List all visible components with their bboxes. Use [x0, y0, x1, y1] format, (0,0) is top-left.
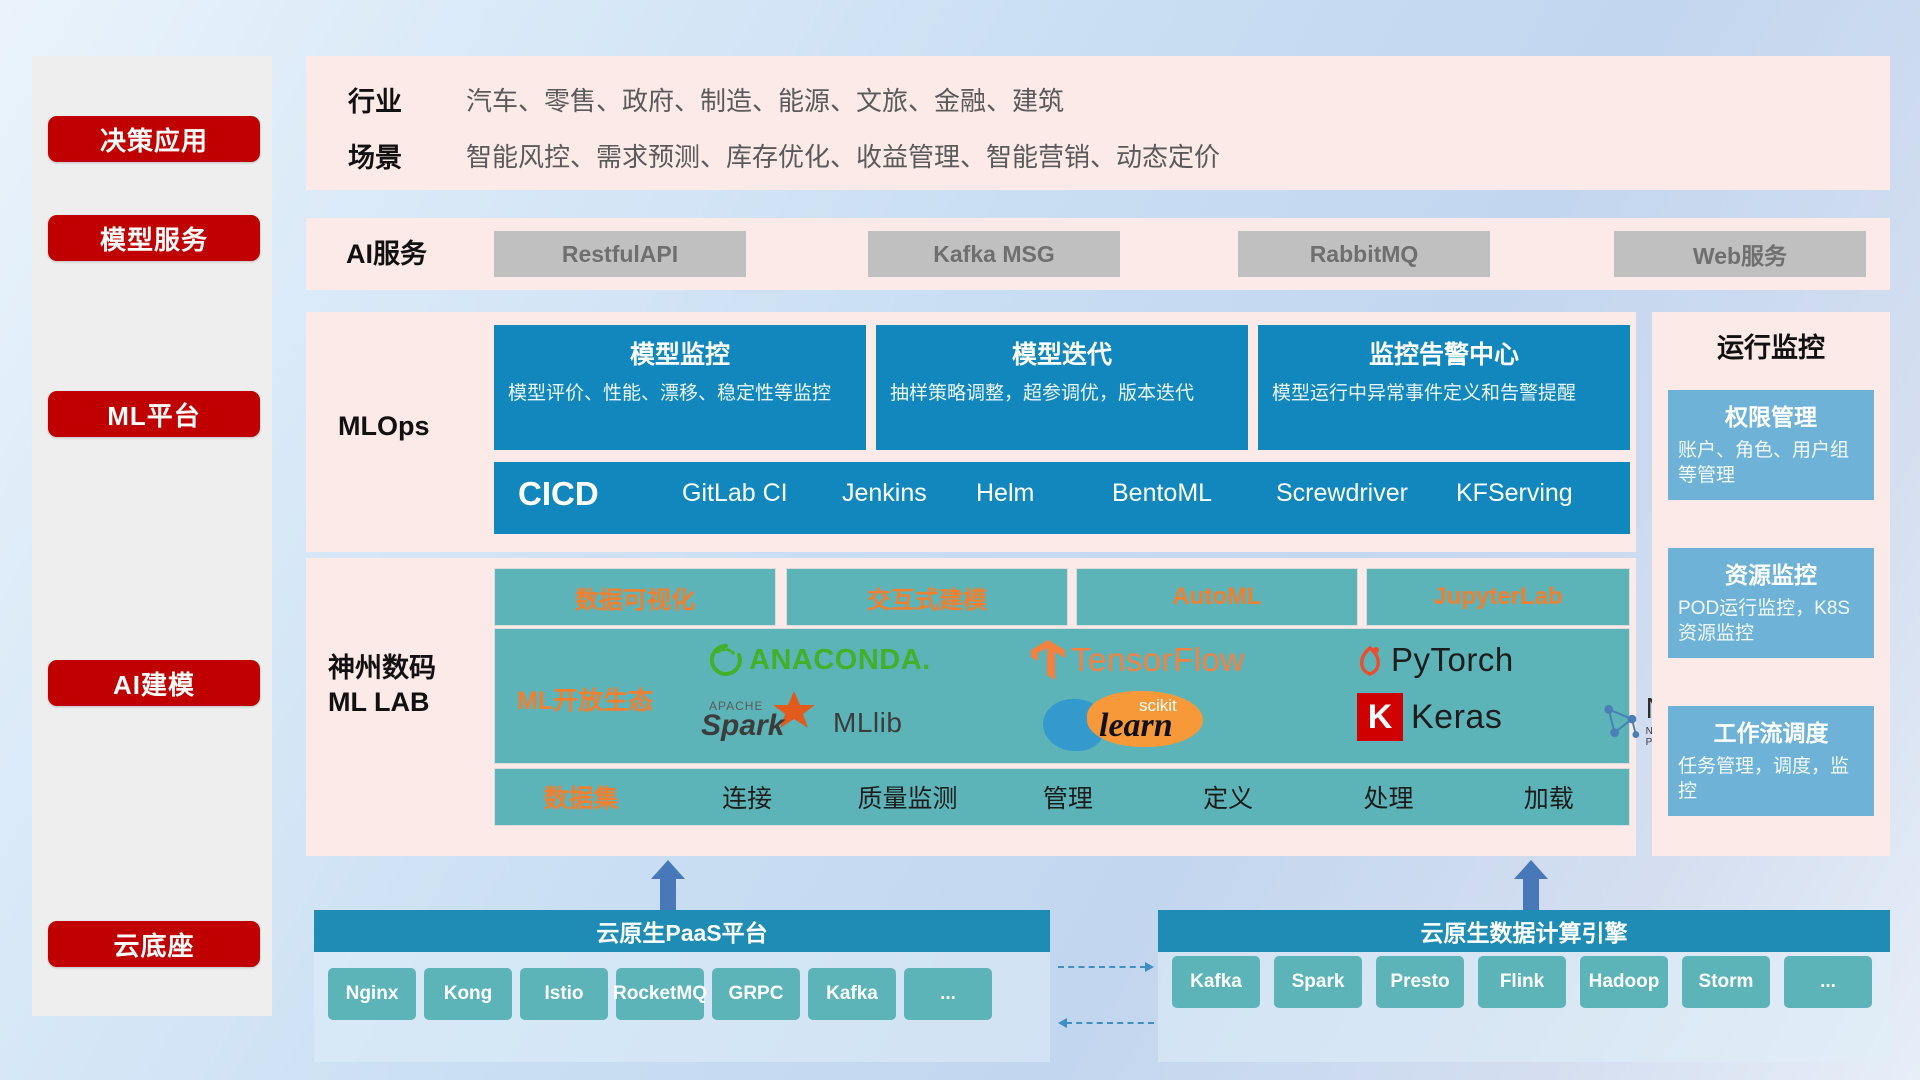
ai-chip-web-service[interactable]: Web服务 [1614, 231, 1866, 277]
dataset-row: 数据集 连接 质量监测 管理 定义 处理 加载 [494, 768, 1630, 826]
right-card-desc: 任务管理，调度，监控 [1678, 754, 1864, 804]
industry-key: 行业 [348, 80, 466, 119]
right-card-resource-monitoring[interactable]: 资源监控 POD运行监控，K8S资源监控 [1668, 548, 1874, 658]
dataset-item-connect[interactable]: 连接 [667, 779, 827, 815]
lab-tab-data-visualization[interactable]: 数据可视化 [494, 568, 776, 626]
ml-lab-label-line2: ML LAB [328, 687, 430, 717]
up-arrow-paas [651, 860, 685, 910]
left-rail: 决策应用 模型服务 ML平台 AI建模 云底座 [32, 56, 272, 1016]
paas-chip-rocketmq[interactable]: RocketMQ [616, 968, 704, 1020]
paas-chip-nginx[interactable]: Nginx [328, 968, 416, 1020]
mllib-logo-text: MLlib [833, 707, 902, 739]
paas-chip-more[interactable]: ... [904, 968, 992, 1020]
data-engine-panel-title: 云原生数据计算引擎 [1158, 910, 1890, 952]
dashed-arrow-to-paas [1058, 1022, 1154, 1024]
paas-panel-title: 云原生PaaS平台 [314, 910, 1050, 952]
paas-chip-grpc[interactable]: GRPC [712, 968, 800, 1020]
ai-chip-restfulapi[interactable]: RestfulAPI [494, 231, 746, 277]
right-card-permission-management[interactable]: 权限管理 账户、角色、用户组等管理 [1668, 390, 1874, 500]
industry-row: 行业 汽车、零售、政府、制造、能源、文旅、金融、建筑 [348, 80, 1064, 119]
cicd-title: CICD [518, 475, 599, 513]
scenario-row: 场景 智能风控、需求预测、库存优化、收益管理、智能营销、动态定价 [348, 136, 1220, 175]
cicd-item-helm[interactable]: Helm [976, 478, 1126, 509]
ai-service-band: AI服务 RestfulAPI Kafka MSG RabbitMQ Web服务 [306, 218, 1890, 290]
tensorflow-logo: TensorFlow [1029, 639, 1245, 681]
cicd-item-screwdriver[interactable]: Screwdriver [1276, 478, 1426, 509]
paas-chip-kafka[interactable]: Kafka [808, 968, 896, 1020]
mlops-card-title: 监控告警中心 [1272, 335, 1616, 371]
dataset-label: 数据集 [495, 779, 667, 815]
architecture-diagram: 决策应用 模型服务 ML平台 AI建模 云底座 行业 汽车、零售、政府、制造、能… [0, 0, 1920, 1080]
learn-text: learn [1099, 707, 1173, 745]
scenario-key: 场景 [348, 136, 466, 175]
engine-chip-spark[interactable]: Spark [1274, 956, 1362, 1008]
ai-service-label: AI服务 [346, 238, 427, 272]
mlops-card-model-monitoring[interactable]: 模型监控 模型评价、性能、漂移、稳定性等监控 [494, 325, 866, 450]
mlops-card-title: 模型监控 [508, 335, 852, 371]
dataset-item-manage[interactable]: 管理 [988, 779, 1148, 815]
rail-item-ai-modeling[interactable]: AI建模 [48, 660, 260, 706]
mlops-card-desc: 模型运行中异常事件定义和告警提醒 [1272, 381, 1616, 407]
lab-tab-automl[interactable]: AutoML [1076, 568, 1358, 626]
right-card-desc: POD运行监控，K8S资源监控 [1678, 596, 1864, 646]
cicd-item-gitlab-ci[interactable]: GitLab CI [682, 478, 832, 509]
mlops-card-model-iteration[interactable]: 模型迭代 抽样策略调整，超参调优，版本迭代 [876, 325, 1248, 450]
keras-k-text: K [1368, 698, 1393, 737]
pytorch-logo: PyTorch [1353, 641, 1514, 679]
industry-scenario-band: 行业 汽车、零售、政府、制造、能源、文旅、金融、建筑 场景 智能风控、需求预测、… [306, 56, 1890, 190]
cicd-item-bentoml[interactable]: BentoML [1112, 478, 1262, 509]
paas-chip-kong[interactable]: Kong [424, 968, 512, 1020]
engine-chip-more[interactable]: ... [1784, 956, 1872, 1008]
ai-chip-rabbitmq[interactable]: RabbitMQ [1238, 231, 1490, 277]
cicd-bar: CICD GitLab CI Jenkins Helm BentoML Scre… [494, 462, 1630, 534]
mlops-label: MLOps [338, 410, 430, 444]
pytorch-logo-text: PyTorch [1391, 641, 1514, 679]
dataset-item-process[interactable]: 处理 [1308, 779, 1468, 815]
scikit-learn-logo: scikit learn [1043, 691, 1233, 753]
right-card-title: 资源监控 [1678, 556, 1864, 590]
anaconda-logo: ANACONDA. [709, 643, 931, 677]
dataset-item-define[interactable]: 定义 [1148, 779, 1308, 815]
right-card-workflow-scheduling[interactable]: 工作流调度 任务管理，调度，监控 [1668, 706, 1874, 816]
tensorflow-logo-text: TensorFlow [1071, 641, 1245, 679]
keras-logo-text: Keras [1411, 698, 1502, 737]
lab-tab-jupyterlab[interactable]: JupyterLab [1366, 568, 1630, 626]
right-card-title: 权限管理 [1678, 398, 1864, 432]
engine-chip-presto[interactable]: Presto [1376, 956, 1464, 1008]
spark-logo-text: Spark [701, 709, 784, 743]
spark-mllib-logo: APACHE Spark MLlib [697, 695, 902, 751]
dataset-item-load[interactable]: 加载 [1469, 779, 1629, 815]
mlops-card-alert-center[interactable]: 监控告警中心 模型运行中异常事件定义和告警提醒 [1258, 325, 1630, 450]
anaconda-logo-text: ANACONDA. [749, 644, 931, 677]
scenario-value: 智能风控、需求预测、库存优化、收益管理、智能营销、动态定价 [466, 137, 1220, 174]
dataset-item-quality[interactable]: 质量监测 [827, 779, 987, 815]
mlops-card-desc: 模型评价、性能、漂移、稳定性等监控 [508, 381, 852, 407]
keras-logo: K Keras [1357, 693, 1502, 741]
mlops-card-desc: 抽样策略调整，超参调优，版本迭代 [890, 381, 1234, 407]
dashed-arrow-to-engine [1058, 966, 1154, 968]
cicd-item-jenkins[interactable]: Jenkins [842, 478, 992, 509]
engine-chip-hadoop[interactable]: Hadoop [1580, 956, 1668, 1008]
engine-chip-kafka[interactable]: Kafka [1172, 956, 1260, 1008]
ai-chip-kafka-msg[interactable]: Kafka MSG [868, 231, 1120, 277]
cicd-item-kfserving[interactable]: KFServing [1456, 478, 1606, 509]
mlops-card-title: 模型迭代 [890, 335, 1234, 371]
lab-tab-interactive-modeling[interactable]: 交互式建模 [786, 568, 1068, 626]
industry-value: 汽车、零售、政府、制造、能源、文旅、金融、建筑 [466, 81, 1064, 118]
rail-item-ml-platform[interactable]: ML平台 [48, 391, 260, 437]
right-card-title: 工作流调度 [1678, 714, 1864, 748]
right-card-desc: 账户、角色、用户组等管理 [1678, 438, 1864, 488]
ml-lab-label-line1: 神州数码 [328, 653, 436, 683]
ml-open-ecosystem-panel: ML开放生态 ANACONDA. TensorFlow PyTorch [494, 628, 1630, 764]
operations-monitoring-title: 运行监控 [1652, 326, 1890, 365]
rail-item-decision-app[interactable]: 决策应用 [48, 116, 260, 162]
engine-chip-flink[interactable]: Flink [1478, 956, 1566, 1008]
paas-chip-istio[interactable]: Istio [520, 968, 608, 1020]
rail-item-cloud-base[interactable]: 云底座 [48, 921, 260, 967]
ml-lab-label: 神州数码 ML LAB [328, 652, 436, 720]
ml-open-ecosystem-label: ML开放生态 [517, 681, 653, 717]
up-arrow-data-engine [1514, 860, 1548, 910]
rail-item-model-service[interactable]: 模型服务 [48, 215, 260, 261]
engine-chip-storm[interactable]: Storm [1682, 956, 1770, 1008]
